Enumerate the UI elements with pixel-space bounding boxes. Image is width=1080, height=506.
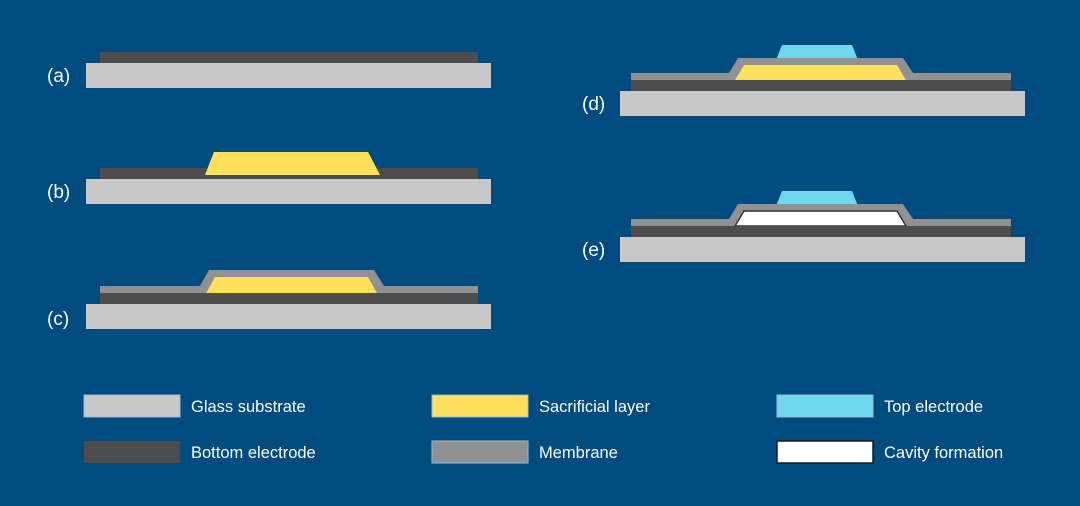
panel-e-label: (e) bbox=[582, 240, 605, 261]
panel-c-bottom-electrode bbox=[100, 293, 478, 304]
panel-b-glass-substrate bbox=[86, 179, 491, 204]
legend-item-glass-substrate: Glass substrate bbox=[84, 395, 306, 417]
panel-a-label: (a) bbox=[47, 66, 70, 87]
legend-item-bottom-electrode: Bottom electrode bbox=[84, 441, 316, 463]
legend-label-top-electrode: Top electrode bbox=[884, 398, 983, 416]
panel-c-sacrificial-layer bbox=[206, 277, 377, 293]
legend-item-membrane: Membrane bbox=[432, 441, 618, 463]
panel-c-glass-substrate bbox=[86, 304, 491, 329]
panel-d-bottom-electrode bbox=[631, 80, 1011, 91]
legend-item-sacrificial-layer: Sacrificial layer bbox=[432, 395, 650, 417]
process-flow-diagram: (a) (b) (c) (d) bbox=[0, 0, 1080, 506]
legend-label-cavity-formation: Cavity formation bbox=[884, 444, 1003, 462]
legend-swatch-top-electrode bbox=[777, 395, 873, 417]
legend-swatch-cavity-formation bbox=[777, 441, 873, 463]
panel-d-label: (d) bbox=[582, 94, 605, 115]
legend-label-bottom-electrode: Bottom electrode bbox=[191, 444, 316, 462]
legend-swatch-sacrificial-layer bbox=[432, 395, 528, 417]
panel-d-glass-substrate bbox=[620, 91, 1025, 116]
panel-e-top-electrode bbox=[776, 191, 858, 206]
legend-label-glass-substrate: Glass substrate bbox=[191, 398, 306, 416]
legend-label-membrane: Membrane bbox=[539, 444, 618, 462]
figure-canvas: (a) (b) (c) (d) bbox=[0, 0, 1080, 506]
legend-swatch-membrane bbox=[432, 441, 528, 463]
panel-b-sacrificial-layer-front bbox=[205, 152, 380, 175]
panel-c-label: (c) bbox=[47, 309, 69, 330]
panel-a-glass-substrate bbox=[86, 63, 491, 88]
legend-swatch-glass-substrate bbox=[84, 395, 180, 417]
panel-d-top-electrode bbox=[776, 45, 858, 60]
panel-e-cavity bbox=[735, 211, 906, 226]
panel-d-sacrificial-layer bbox=[735, 65, 906, 80]
panel-e-glass-substrate bbox=[620, 237, 1025, 262]
panel-a: (a) bbox=[47, 52, 491, 88]
panel-a-bottom-electrode bbox=[100, 52, 478, 63]
legend-swatch-bottom-electrode bbox=[84, 441, 180, 463]
legend-item-cavity-formation: Cavity formation bbox=[777, 441, 1003, 463]
panel-b-label: (b) bbox=[47, 182, 70, 203]
panel-e-bottom-electrode bbox=[631, 226, 1011, 237]
legend-label-sacrificial-layer: Sacrificial layer bbox=[539, 398, 650, 416]
